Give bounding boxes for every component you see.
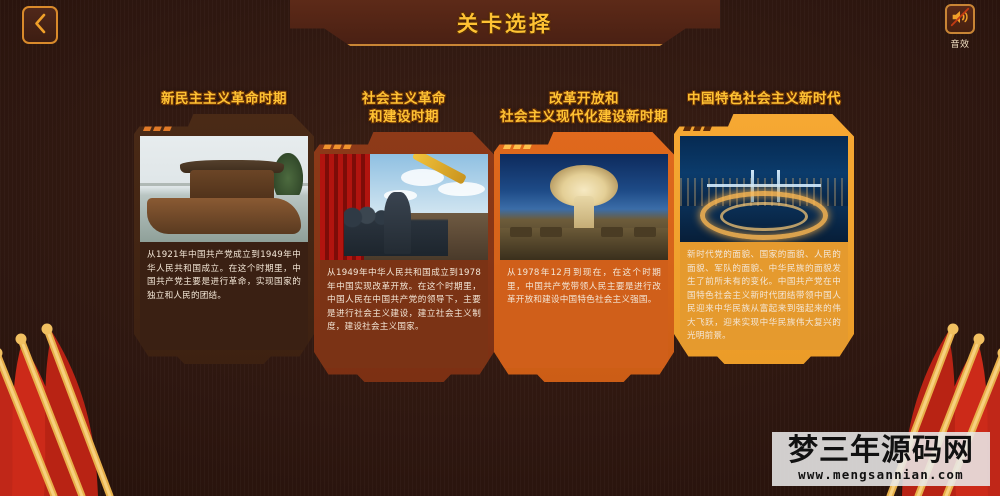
- watermark: 梦三年源码网 www.mengsannian.com: [772, 432, 990, 486]
- level-card-3-description: 从1978年12月到现在，在这个时期里，中国共产党带领人民主要是进行改革开放和建…: [500, 260, 668, 368]
- page-title: 关卡选择: [457, 8, 553, 38]
- sound-button[interactable]: [945, 4, 975, 34]
- level-card-2-frame[interactable]: 从1949年中华人民共和国成立到1978年中国实现改革开放。在这个时期里，中国人…: [314, 132, 494, 382]
- level-card-2-title: 社会主义革命 和建设时期: [314, 90, 494, 126]
- watermark-name: 梦三年源码网: [788, 436, 974, 466]
- level-card-3[interactable]: 改革开放和 社会主义现代化建设新时期: [494, 90, 674, 382]
- level-card-3-image: [500, 154, 668, 260]
- level-card-1-body: 从1921年中国共产党成立到1949年中华人民共和国成立。在这个时期里，中国共产…: [140, 136, 308, 350]
- chevron-left-icon: [33, 13, 48, 38]
- level-card-4-description: 新时代党的面貌、国家的面貌、人民的面貌、军队的面貌、中华民族的面貌发生了前所未有…: [680, 242, 848, 350]
- level-card-1-title: 新民主主义革命时期: [134, 90, 314, 108]
- level-card-4[interactable]: 中国特色社会主义新时代: [674, 90, 854, 364]
- speaker-muted-icon: [949, 6, 971, 32]
- header-bar: 关卡选择 音效: [0, 0, 1000, 56]
- level-card-1-frame[interactable]: 从1921年中国共产党成立到1949年中华人民共和国成立。在这个时期里，中国共产…: [134, 114, 314, 364]
- level-card-3-title: 改革开放和 社会主义现代化建设新时期: [494, 90, 674, 126]
- sound-toggle[interactable]: 音效: [937, 4, 983, 52]
- level-card-4-image: [680, 136, 848, 242]
- back-button[interactable]: [22, 6, 58, 44]
- level-card-2-stripes: [325, 139, 359, 149]
- level-card-3-frame[interactable]: 从1978年12月到现在，在这个时期里，中国共产党带领人民主要是进行改革开放和建…: [494, 132, 674, 382]
- level-card-4-stripes: [685, 121, 719, 131]
- level-cards: 新民主主义革命时期 从19: [0, 90, 1000, 410]
- level-select-screen: 关卡选择 音效: [0, 0, 1000, 496]
- level-card-1-stripes: [145, 121, 179, 131]
- level-card-2-image: [320, 154, 488, 260]
- watermark-url: www.mengsannian.com: [798, 469, 964, 482]
- level-card-4-body: 新时代党的面貌、国家的面貌、人民的面貌、军队的面貌、中华民族的面貌发生了前所未有…: [680, 136, 848, 350]
- sound-label: 音效: [950, 37, 969, 50]
- page-title-wrap: 关卡选择: [290, 0, 720, 46]
- level-card-4-title: 中国特色社会主义新时代: [674, 90, 854, 108]
- level-card-1-description: 从1921年中国共产党成立到1949年中华人民共和国成立。在这个时期里，中国共产…: [140, 242, 308, 350]
- level-card-3-stripes: [505, 139, 539, 149]
- level-card-1-image: [140, 136, 308, 242]
- level-card-2-description: 从1949年中华人民共和国成立到1978年中国实现改革开放。在这个时期里，中国人…: [320, 260, 488, 368]
- level-card-2-body: 从1949年中华人民共和国成立到1978年中国实现改革开放。在这个时期里，中国人…: [320, 154, 488, 368]
- level-card-1[interactable]: 新民主主义革命时期 从19: [134, 90, 314, 364]
- level-card-4-frame[interactable]: 新时代党的面貌、国家的面貌、人民的面貌、军队的面貌、中华民族的面貌发生了前所未有…: [674, 114, 854, 364]
- level-card-3-body: 从1978年12月到现在，在这个时期里，中国共产党带领人民主要是进行改革开放和建…: [500, 154, 668, 368]
- level-card-2[interactable]: 社会主义革命 和建设时期: [314, 90, 494, 382]
